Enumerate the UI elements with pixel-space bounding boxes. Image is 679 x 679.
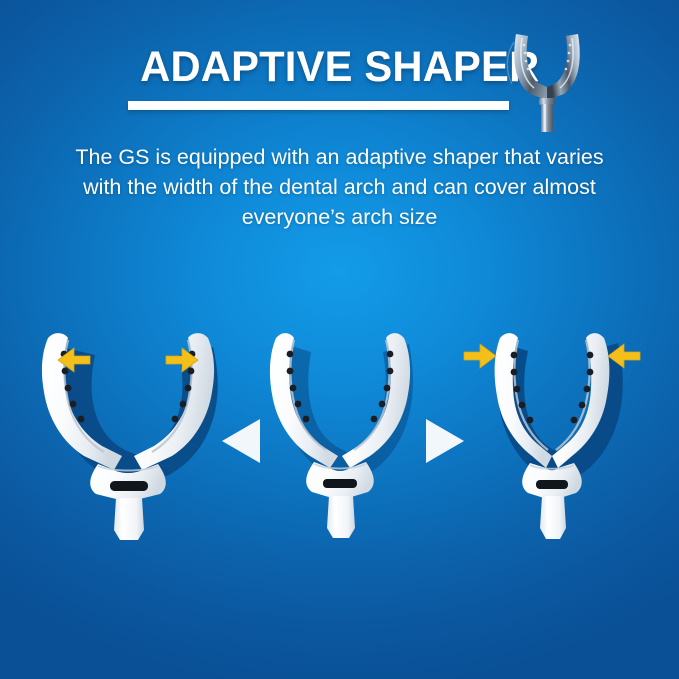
adaptive-shaper-poster: ADAPTIVE SHAPER — [0, 0, 679, 679]
tray-handle — [114, 498, 144, 540]
step-arrow-right — [424, 417, 466, 465]
page-title: ADAPTIVE SHAPER — [138, 46, 541, 89]
tray-front-slot — [110, 481, 148, 491]
tray-narrow — [442, 318, 662, 548]
tray-front-slot — [323, 479, 357, 488]
tray-wide — [18, 318, 238, 548]
tray-front-slot — [536, 480, 568, 489]
chrome-dental-tray-emblem — [504, 28, 590, 132]
subtitle-text: The GS is equipped with an adaptive shap… — [40, 142, 640, 232]
step-arrow-left — [220, 417, 262, 465]
shaper-arrow-right — [464, 344, 496, 368]
tray-handle — [327, 496, 355, 538]
tray-medium — [230, 318, 450, 548]
subtitle-line-2: with the width of the dental arch and ca… — [40, 172, 640, 202]
tray-handle — [540, 496, 566, 539]
tray-comparison-row — [0, 318, 679, 548]
subtitle-line-1: The GS is equipped with an adaptive shap… — [40, 142, 640, 172]
title-underline-rule — [128, 101, 509, 110]
subtitle-line-3: everyone’s arch size — [40, 202, 640, 232]
